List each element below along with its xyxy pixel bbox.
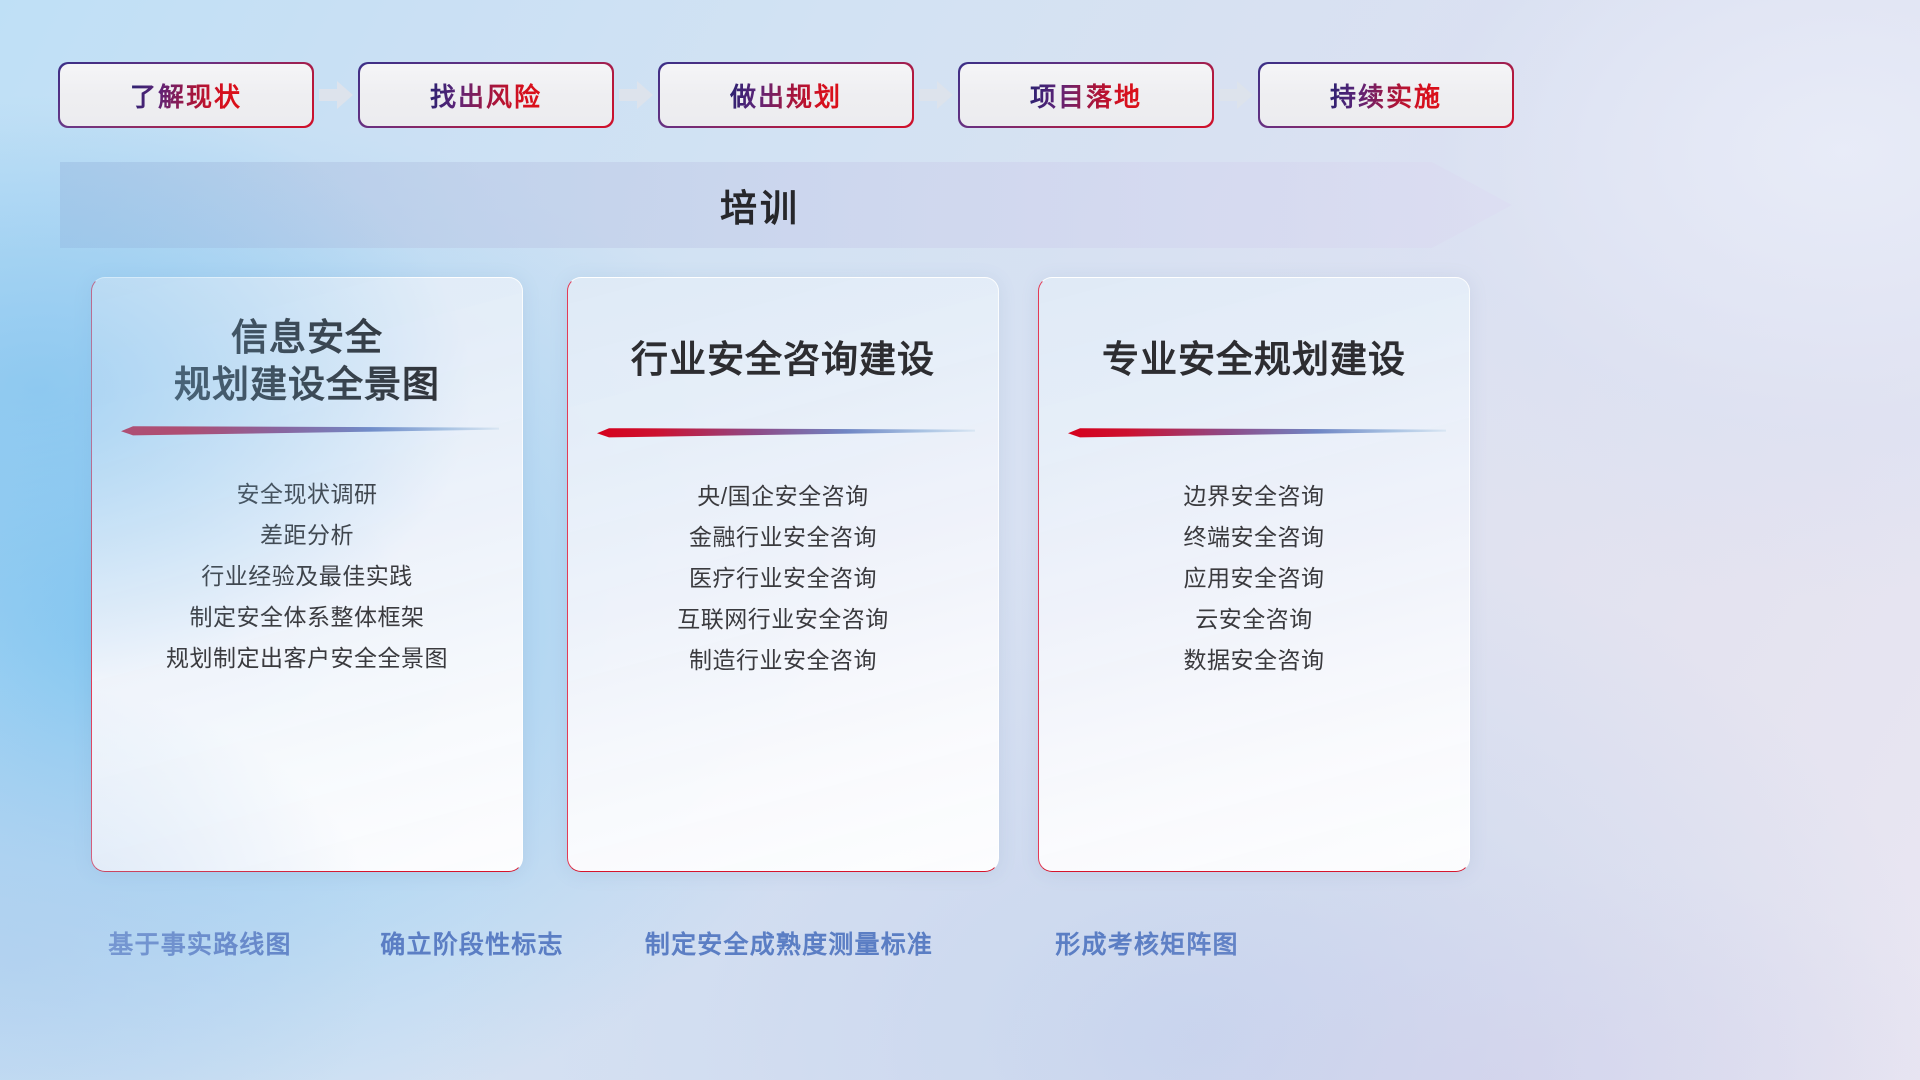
list-item: 医疗行业安全咨询: [568, 558, 998, 599]
step-arrow-2: [612, 64, 660, 126]
training-banner: 培训: [60, 162, 1512, 248]
arrow-right-icon: [619, 81, 653, 109]
step-chip-4-label: 项目落地: [1030, 77, 1142, 114]
list-item: 云安全咨询: [1039, 599, 1469, 640]
list-item: 互联网行业安全咨询: [568, 599, 998, 640]
gradient-rule-icon: [117, 425, 499, 437]
footer-label-3: 制定安全成熟度测量标准: [645, 925, 933, 961]
step-chip-5[interactable]: 持续实施: [1260, 64, 1512, 126]
card-1-title: 信息安全 规划建设全景图: [92, 314, 522, 409]
arrow-right-icon: [319, 81, 353, 109]
step-chip-3[interactable]: 做出规划: [660, 64, 912, 126]
step-arrow-1: [312, 64, 360, 126]
list-item: 安全现状调研: [92, 474, 522, 515]
card-professional-security-planning[interactable]: 专业安全规划建设: [1038, 277, 1470, 872]
footer-label-1: 基于事实路线图: [108, 925, 291, 961]
step-chip-2[interactable]: 找出风险: [360, 64, 612, 126]
footer-label-4: 形成考核矩阵图: [1055, 925, 1238, 961]
card-information-security-blueprint[interactable]: 信息安全 规划建设全景图: [91, 277, 523, 872]
card-3-divider: [1064, 426, 1446, 438]
arrow-right-icon: [1219, 81, 1253, 109]
step-chip-3-label: 做出规划: [730, 77, 842, 114]
gradient-rule-icon: [593, 427, 975, 439]
banner-title: 培训: [60, 162, 1460, 248]
list-item: 规划制定出客户安全全景图: [92, 638, 522, 679]
card-industry-security-consulting[interactable]: 行业安全咨询建设: [567, 277, 999, 872]
list-item: 差距分析: [92, 515, 522, 556]
card-1-list: 安全现状调研 差距分析 行业经验及最佳实践 制定安全体系整体框架 规划制定出客户…: [92, 474, 522, 679]
card-2-divider: [593, 426, 975, 438]
card-3-title: 专业安全规划建设: [1039, 336, 1469, 383]
cards-row: 信息安全 规划建设全景图: [0, 277, 1920, 873]
footer-labels-row: 基于事实路线图 确立阶段性标志 制定安全成熟度测量标准 形成考核矩阵图: [0, 925, 1920, 975]
card-3-list: 边界安全咨询 终端安全咨询 应用安全咨询 云安全咨询 数据安全咨询: [1039, 476, 1469, 681]
list-item: 制定安全体系整体框架: [92, 597, 522, 638]
footer-label-2: 确立阶段性标志: [380, 925, 563, 961]
step-chip-1-label: 了解现状: [130, 77, 242, 114]
slide-canvas: 了解现状 找出风险 做出规划 项目落地: [0, 0, 1920, 1080]
step-chip-1[interactable]: 了解现状: [60, 64, 312, 126]
step-chip-2-label: 找出风险: [430, 77, 542, 114]
card-1-divider: [117, 424, 499, 436]
step-arrow-4: [1212, 64, 1260, 126]
list-item: 金融行业安全咨询: [568, 517, 998, 558]
card-2-title: 行业安全咨询建设: [568, 336, 998, 383]
gradient-rule-icon: [1064, 427, 1446, 439]
arrow-right-icon: [919, 81, 953, 109]
card-2-list: 央/国企安全咨询 金融行业安全咨询 医疗行业安全咨询 互联网行业安全咨询 制造行…: [568, 476, 998, 681]
list-item: 行业经验及最佳实践: [92, 556, 522, 597]
list-item: 制造行业安全咨询: [568, 640, 998, 681]
step-arrow-3: [912, 64, 960, 126]
step-chip-5-label: 持续实施: [1330, 77, 1442, 114]
list-item: 终端安全咨询: [1039, 517, 1469, 558]
process-steps-row: 了解现状 找出风险 做出规划 项目落地: [60, 62, 1512, 128]
list-item: 数据安全咨询: [1039, 640, 1469, 681]
list-item: 央/国企安全咨询: [568, 476, 998, 517]
step-chip-4[interactable]: 项目落地: [960, 64, 1212, 126]
list-item: 应用安全咨询: [1039, 558, 1469, 599]
list-item: 边界安全咨询: [1039, 476, 1469, 517]
